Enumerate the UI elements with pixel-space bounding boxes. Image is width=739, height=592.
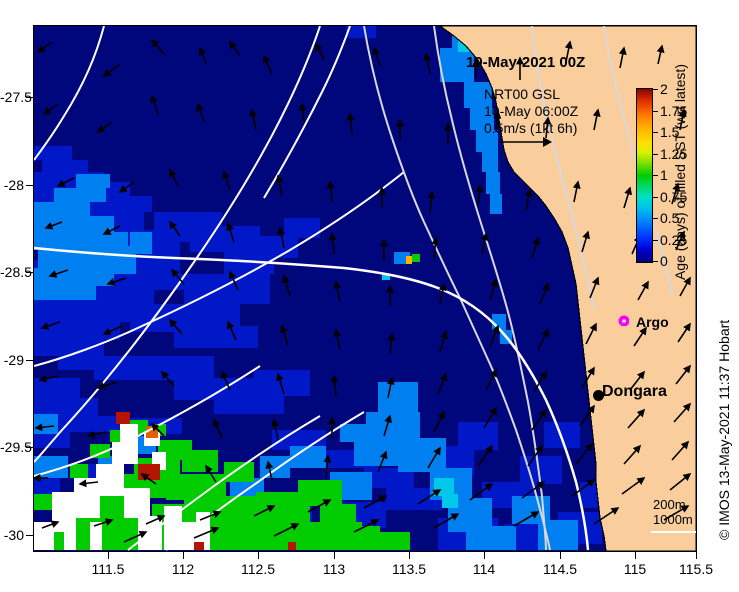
argo-label: Argo <box>636 314 669 330</box>
map-plot-area[interactable]: 10-May-2021 00Z NRT00 GSL 10-May 06:00Z … <box>33 25 697 552</box>
y-axis-label: -29 <box>0 352 24 368</box>
colorbar-tick <box>653 175 658 176</box>
scalebar-label-200m: 200m <box>653 497 693 512</box>
x-axis-label: 113 <box>304 561 364 577</box>
y-axis-label: -28.5 <box>0 264 24 280</box>
colorbar-tick <box>653 218 658 219</box>
y-tick-mark <box>26 185 33 186</box>
x-axis-label: 115 <box>605 561 665 577</box>
x-axis-label: 112.5 <box>228 561 288 577</box>
map-canvas: 10-May-2021 00Z NRT00 GSL 10-May 06:00Z … <box>34 26 696 551</box>
x-axis-label: 114.5 <box>530 561 590 577</box>
colorbar-tick <box>653 154 658 155</box>
y-axis-label: -29.5 <box>0 439 24 455</box>
map-title: 10-May-2021 00Z <box>466 54 585 71</box>
colorbar-tick <box>653 89 658 90</box>
dongara-label: Dongara <box>602 383 667 401</box>
colorbar[interactable] <box>636 88 653 263</box>
colorbar-tick <box>653 197 658 198</box>
y-axis-label: -28 <box>0 177 24 193</box>
annotation-line-1: NRT00 GSL <box>484 86 578 103</box>
land-mass-australia <box>34 26 696 551</box>
imos-credit: © IMOS 13-May-2021 11:37 Hobart <box>716 320 732 540</box>
colorbar-tick <box>653 132 658 133</box>
scalebar-labels: 200m 1000m <box>653 497 693 527</box>
y-axis-label: -27.5 <box>0 89 24 105</box>
x-tick-mark <box>560 552 561 559</box>
colorbar-tick-label: 1 <box>660 167 668 183</box>
colorbar-tick-label: 2 <box>660 81 668 97</box>
x-axis-label: 112 <box>153 561 213 577</box>
x-axis-label: 115.5 <box>666 561 726 577</box>
y-tick-mark <box>26 535 33 536</box>
colorbar-tick <box>653 240 658 241</box>
x-tick-mark <box>484 552 485 559</box>
argo-float-marker-icon[interactable] <box>618 315 629 326</box>
x-tick-mark <box>258 552 259 559</box>
colorbar-tick-label: 0 <box>660 253 668 269</box>
figure-root: 10-May-2021 00Z NRT00 GSL 10-May 06:00Z … <box>0 0 739 592</box>
x-tick-mark <box>108 552 109 559</box>
annotation-line-2: 10-May 06:00Z <box>484 103 578 120</box>
x-axis-label: 114 <box>454 561 514 577</box>
y-axis-label: -30 <box>0 527 24 543</box>
x-tick-mark <box>696 552 697 559</box>
y-tick-mark <box>26 360 33 361</box>
x-tick-mark <box>183 552 184 559</box>
x-axis-label: 113.5 <box>379 561 439 577</box>
scalebar-label-1000m: 1000m <box>653 512 693 527</box>
x-tick-mark <box>635 552 636 559</box>
velocity-annotation-block: NRT00 GSL 10-May 06:00Z 0.5m/s (1kt 6h) <box>484 86 578 137</box>
scalebar-line-icon <box>651 531 696 533</box>
colorbar-tick <box>653 111 658 112</box>
colorbar-gradient <box>637 89 652 262</box>
velocity-scale-arrow-icon <box>497 134 557 150</box>
x-tick-mark <box>334 552 335 559</box>
x-tick-mark <box>409 552 410 559</box>
colorbar-tick <box>653 261 658 262</box>
x-axis-label: 111.5 <box>78 561 138 577</box>
colorbar-title: Age (days) of filled SST (wrt latest) <box>672 64 688 280</box>
